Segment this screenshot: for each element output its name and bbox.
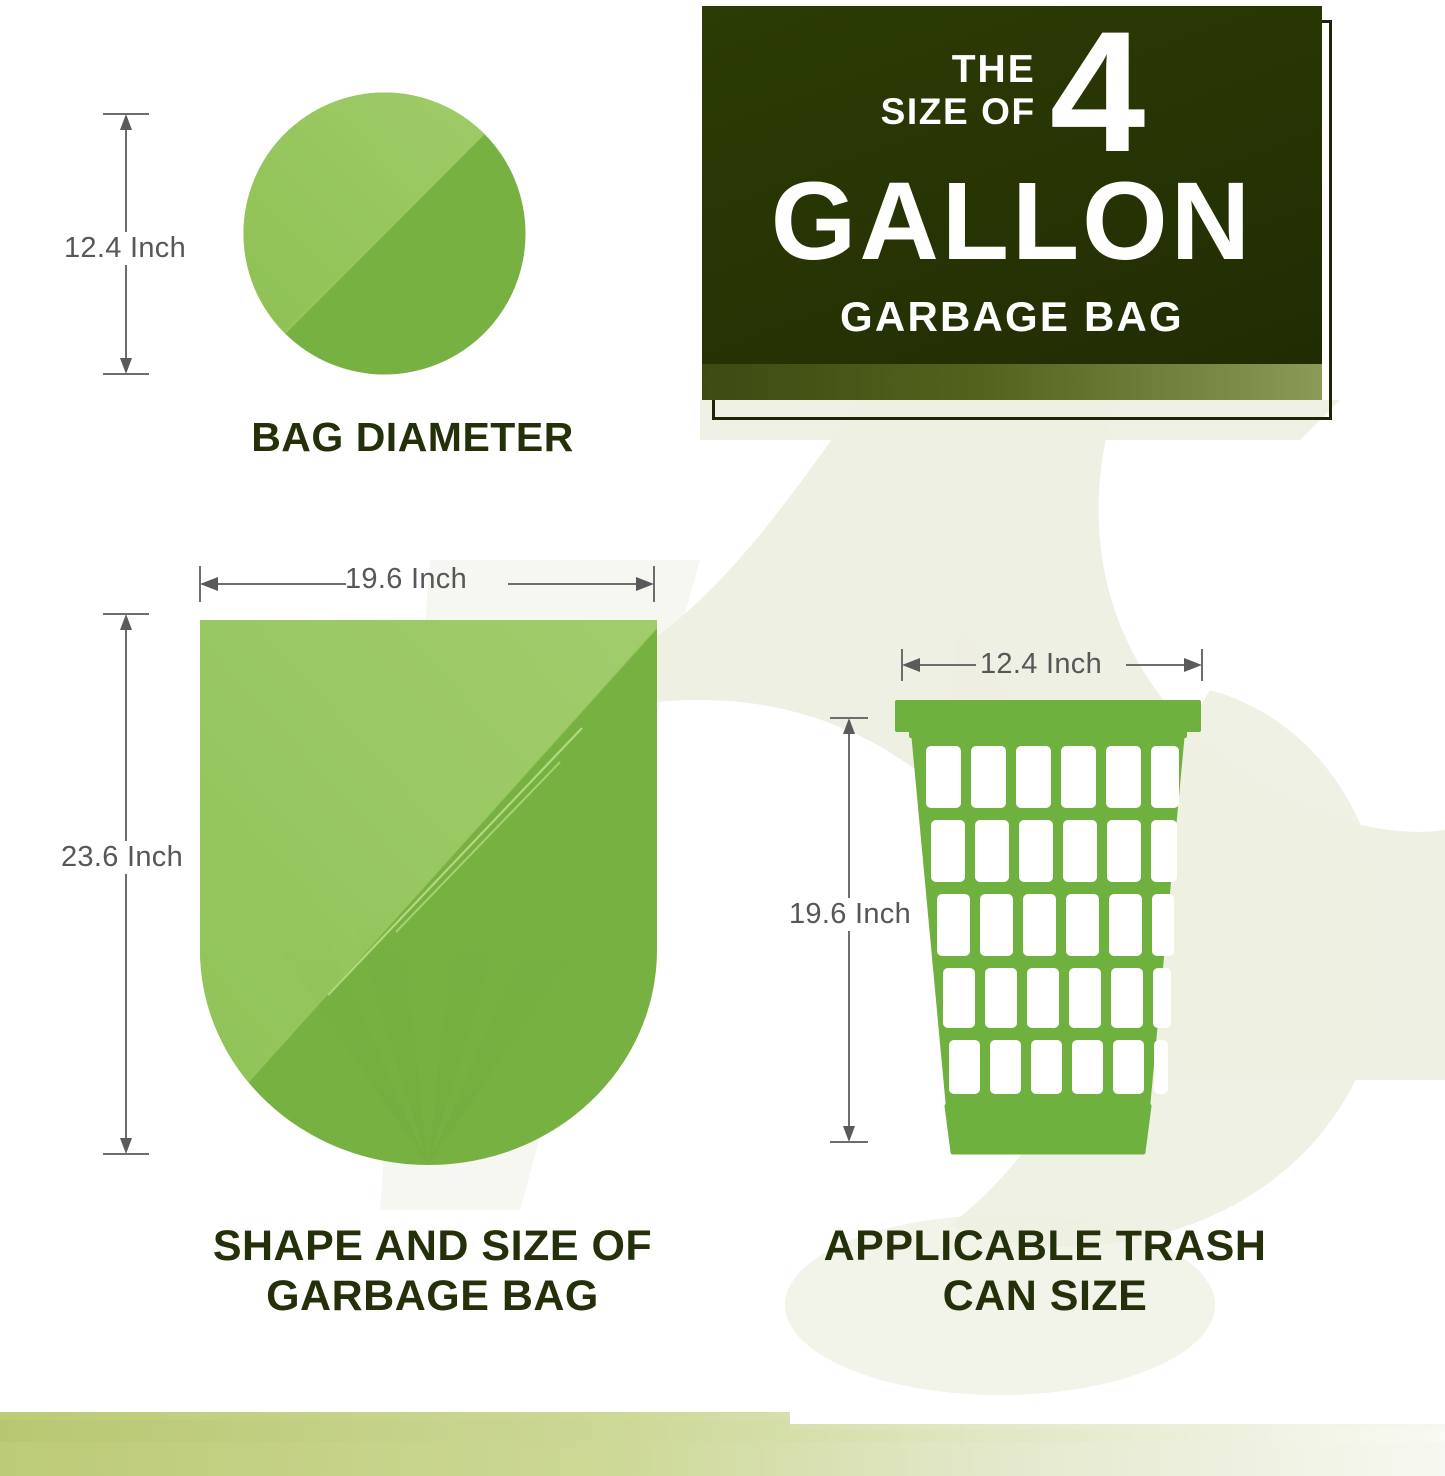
banner-the-size-of: THE SIZE OF bbox=[881, 50, 1036, 136]
banner-gallon-number: 4 bbox=[1050, 22, 1144, 163]
bottom-decorative-band bbox=[0, 1390, 1445, 1476]
garbage-bag-shape bbox=[200, 620, 657, 1165]
banner-top-row: THE SIZE OF 4 bbox=[702, 22, 1322, 163]
trash-can-caption-line1: APPLICABLE TRASH bbox=[770, 1222, 1320, 1270]
bag-height-label: 23.6 Inch bbox=[56, 841, 188, 874]
trash-can-caption-line2: CAN SIZE bbox=[770, 1272, 1320, 1320]
banner-the-label: THE bbox=[952, 50, 1036, 89]
bag-height-dimension bbox=[100, 608, 152, 1160]
trash-can-width-label: 12.4 Inch bbox=[980, 648, 1102, 681]
infographic-page: 12.4 Inch BAG DIAMETER bbox=[0, 0, 1445, 1476]
banner-bottom-strip bbox=[702, 364, 1322, 400]
bag-width-label: 19.6 Inch bbox=[345, 563, 467, 596]
bag-diameter-caption: BAG DIAMETER bbox=[140, 415, 685, 461]
trash-can-illustration bbox=[893, 700, 1203, 1170]
banner-garbage-bag-label: GARBAGE BAG bbox=[840, 293, 1184, 341]
banner-gallon-label: GALLON bbox=[771, 167, 1253, 277]
bag-shape-caption-line2: GARBAGE BAG bbox=[110, 1272, 755, 1320]
bag-shape-caption-line1: SHAPE AND SIZE OF bbox=[110, 1222, 755, 1270]
trash-can-height-label: 19.6 Inch bbox=[784, 898, 916, 931]
bag-diameter-height-label: 12.4 Inch bbox=[58, 232, 192, 265]
headline-banner: THE SIZE OF 4 GALLON GARBAGE BAG bbox=[702, 6, 1322, 400]
bag-diameter-circle bbox=[243, 92, 526, 375]
banner-size-of-label: SIZE OF bbox=[881, 93, 1036, 130]
